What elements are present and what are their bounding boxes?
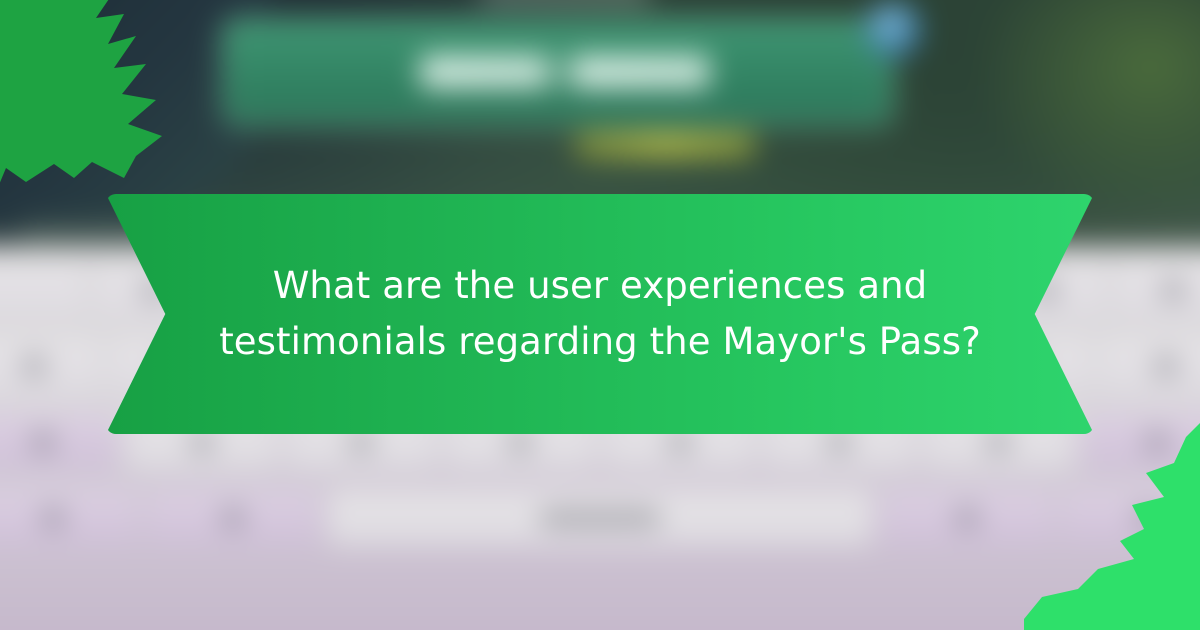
key[interactable] [0,338,100,394]
question-ribbon: What are the user experiences and testim… [106,194,1094,434]
blurred-blue-avatar-badge[interactable] [865,2,921,58]
question-line-2: testimonials regarding the Mayor's Pass? [219,320,981,364]
key-comma[interactable] [148,490,318,546]
blurred-yellow-accent [575,132,755,158]
key[interactable] [0,262,85,318]
key[interactable] [1115,262,1200,318]
poster-canvas: What are the user experiences and testim… [0,0,1200,630]
key-space[interactable] [328,490,872,546]
key-shift[interactable] [0,414,117,470]
key[interactable] [1101,338,1200,394]
key-symbols[interactable] [0,490,138,546]
blurred-field-text [420,55,710,89]
blurred-foliage [970,0,1200,220]
torn-green-corner-bottom-right [1024,419,1200,630]
question-line-1: What are the user experiences and [273,264,928,308]
ribbon-text: What are the user experiences and testim… [106,194,1094,434]
blurred-app-title [480,0,650,4]
keyboard-row-4[interactable] [0,490,1200,546]
